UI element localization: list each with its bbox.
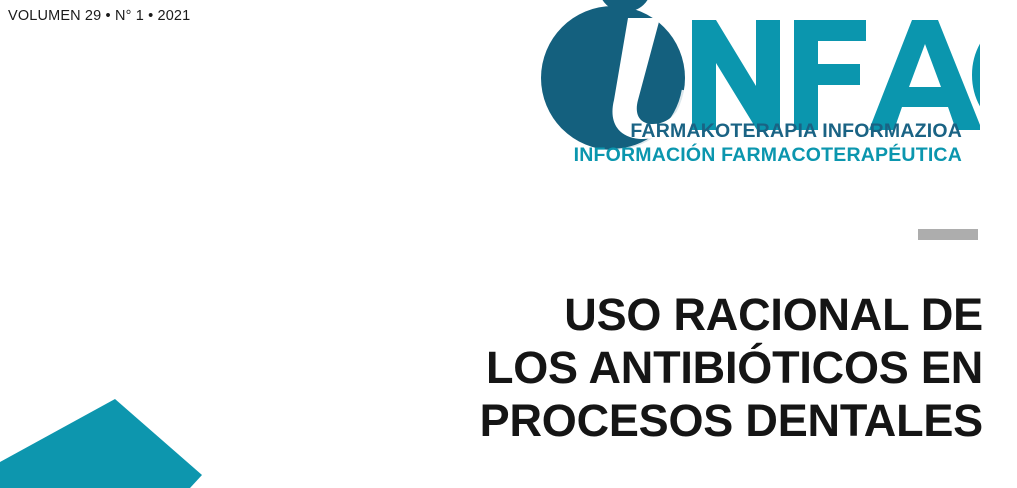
issue-line: VOLUMEN 29 • N° 1 • 2021 xyxy=(8,8,190,24)
title-line-3: PROCESOS DENTALES xyxy=(223,394,983,447)
logo-wordmark xyxy=(692,13,980,137)
gray-rule-decoration xyxy=(918,229,978,240)
logo-subtitle-spanish: INFORMACIÓN FARMACOTERAPÉUTICA xyxy=(574,144,962,167)
infac-logo: FARMAKOTERAPIA INFORMAZIOA INFORMACIÓN F… xyxy=(520,0,990,168)
page-title: USO RACIONAL DE LOS ANTIBIÓTICOS EN PROC… xyxy=(223,288,983,447)
teal-polygon xyxy=(0,399,202,488)
infac-logo-mark xyxy=(520,0,980,118)
teal-corner-decoration xyxy=(0,392,215,488)
cover-page: VOLUMEN 29 • N° 1 • 2021 xyxy=(0,0,1017,488)
logo-subtitle-basque: FARMAKOTERAPIA INFORMAZIOA xyxy=(630,120,962,143)
title-line-2: LOS ANTIBIÓTICOS EN xyxy=(223,341,983,394)
title-line-1: USO RACIONAL DE xyxy=(223,288,983,341)
